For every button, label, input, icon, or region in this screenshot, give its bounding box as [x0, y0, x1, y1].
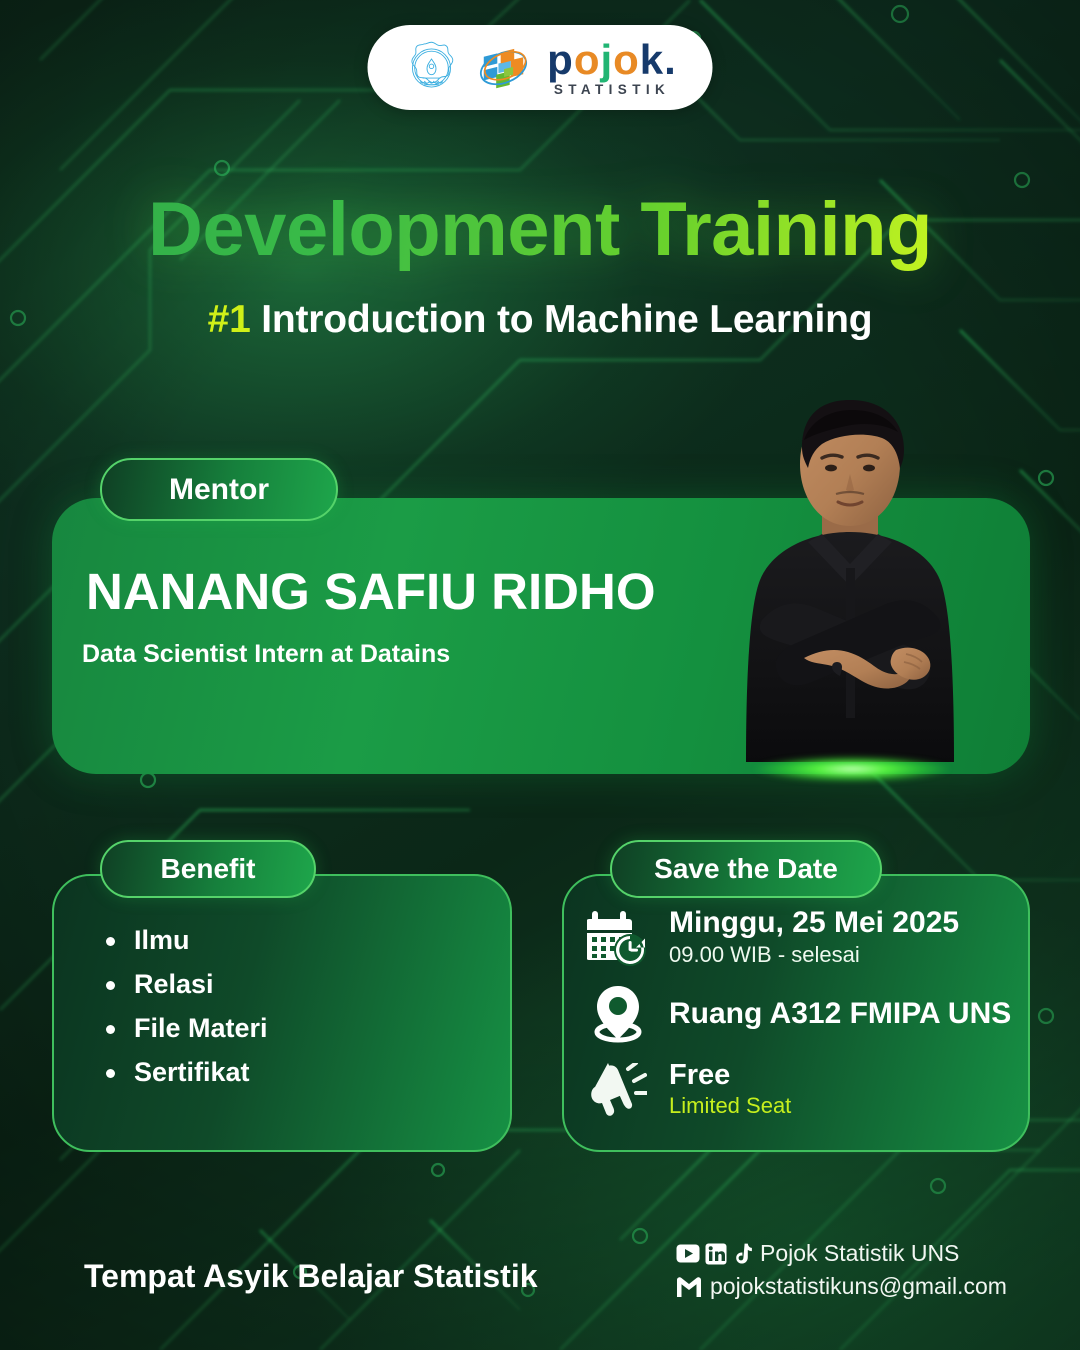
social-icons-group — [676, 1243, 752, 1265]
benefit-section-pill: Benefit — [100, 840, 316, 898]
mentor-section-pill: Mentor — [100, 458, 338, 521]
youtube-icon[interactable] — [676, 1244, 700, 1263]
tiktok-icon[interactable] — [732, 1243, 752, 1265]
list-item: File Materi — [100, 1013, 268, 1044]
gmail-icon-wrap — [676, 1276, 702, 1298]
footer-contact-block: Pojok Statistik UNS pojokstatistikuns@gm… — [676, 1240, 1007, 1306]
brand-logo-bar: pojok. STATISTIK — [368, 25, 713, 110]
gmail-icon[interactable] — [676, 1276, 702, 1298]
email-address: pojokstatistikuns@gmail.com — [710, 1273, 1007, 1300]
page-subtitle: #1 Introduction to Machine Learning — [0, 298, 1080, 342]
event-location: Ruang A312 FMIPA UNS — [669, 997, 1011, 1032]
mentor-portrait — [700, 392, 1000, 792]
pojok-wordmark-block: pojok. STATISTIK — [547, 39, 677, 97]
date-row-price: Free Limited Seat — [585, 1057, 1015, 1123]
email-row: pojokstatistikuns@gmail.com — [676, 1273, 1007, 1300]
date-row-location: Ruang A312 FMIPA UNS — [585, 981, 1015, 1047]
benefit-list: Ilmu Relasi File Materi Sertifikat — [100, 925, 268, 1101]
bps-statistik-logo — [472, 39, 534, 97]
megaphone-icon — [585, 1057, 651, 1123]
session-topic: Introduction to Machine Learning — [251, 298, 873, 341]
event-date: Minggu, 25 Mei 2025 — [669, 906, 959, 941]
save-the-date-section-pill: Save the Date — [610, 840, 882, 898]
pojok-wordmark: pojok. — [547, 39, 677, 81]
event-price: Free — [669, 1060, 791, 1092]
social-handle-row: Pojok Statistik UNS — [676, 1240, 1007, 1267]
event-time: 09.00 WIB - selesai — [669, 941, 959, 970]
session-number: #1 — [208, 298, 251, 341]
footer-tagline: Tempat Asyik Belajar Statistik — [84, 1258, 538, 1295]
event-seat-note: Limited Seat — [669, 1092, 791, 1121]
calendar-clock-icon — [585, 905, 651, 971]
list-item: Ilmu — [100, 925, 268, 956]
list-item: Sertifikat — [100, 1057, 268, 1088]
date-row-schedule: Minggu, 25 Mei 2025 09.00 WIB - selesai — [585, 905, 1015, 971]
portrait-glow-bar — [728, 752, 976, 786]
location-pin-icon — [585, 981, 651, 1047]
list-item: Relasi — [100, 969, 268, 1000]
mentor-role: Data Scientist Intern at Datains — [82, 640, 450, 669]
save-the-date-rows: Minggu, 25 Mei 2025 09.00 WIB - selesai … — [585, 905, 1015, 1133]
uns-seal-logo — [403, 40, 459, 96]
poster-root: pojok. STATISTIK Development Training #1… — [0, 0, 1080, 1350]
mentor-name: NANANG SAFIU RIDHO — [86, 562, 656, 621]
pojok-subwordmark: STATISTIK — [554, 83, 670, 97]
social-handle: Pojok Statistik UNS — [760, 1240, 959, 1267]
page-title: Development Training — [0, 186, 1080, 273]
linkedin-icon[interactable] — [705, 1243, 727, 1265]
